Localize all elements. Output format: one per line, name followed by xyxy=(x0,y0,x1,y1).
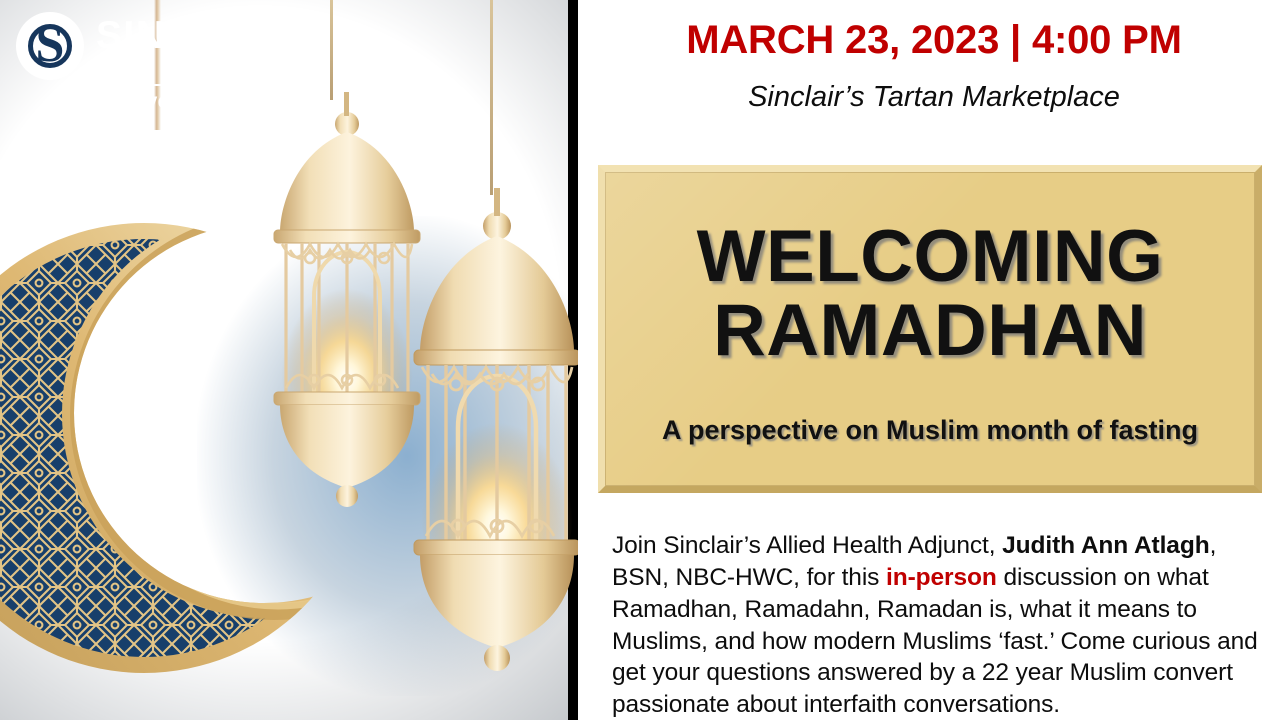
logo-department: Diversity Office xyxy=(124,91,283,112)
artwork-panel: S SINCLAIR C O L L E G E Diversity Offic… xyxy=(0,0,578,720)
event-flyer: S SINCLAIR C O L L E G E Diversity Offic… xyxy=(0,0,1280,720)
lantern-cord xyxy=(490,0,493,195)
hanging-lantern-left xyxy=(272,92,422,512)
event-title-line2: RAMADHAN xyxy=(605,294,1255,368)
sinclair-s-circle-logo-icon: S xyxy=(16,12,84,80)
format-highlight: in-person xyxy=(886,564,997,591)
logo-tier: C O L L E G E xyxy=(98,58,294,92)
event-subtitle: A perspective on Muslim month of fasting xyxy=(605,416,1255,446)
event-title-line1: WELCOMING xyxy=(697,216,1164,297)
event-description: Join Sinclair’s Allied Health Adjunct, J… xyxy=(612,530,1260,720)
title-plaque: WELCOMING RAMADHAN A perspective on Musl… xyxy=(598,165,1262,493)
event-venue: Sinclair’s Tartan Marketplace xyxy=(588,82,1280,114)
event-datetime: MARCH 23, 2023 | 4:00 PM xyxy=(588,18,1280,62)
description-text: Join Sinclair’s Allied Health Adjunct, xyxy=(612,532,1002,559)
hanging-lantern-right xyxy=(412,188,578,688)
sinclair-logo: S SINCLAIR C O L L E G E Diversity Offic… xyxy=(14,8,294,113)
logo-wordmark: SINCLAIR xyxy=(96,16,292,55)
content-panel: MARCH 23, 2023 | 4:00 PM Sinclair’s Tart… xyxy=(588,0,1280,720)
logo-divider xyxy=(80,84,280,86)
lantern-cord xyxy=(330,0,333,100)
logo-s-glyph: S xyxy=(16,12,84,80)
speaker-name: Judith Ann Atlagh xyxy=(1002,532,1209,559)
event-title: WELCOMING RAMADHAN xyxy=(605,220,1255,369)
